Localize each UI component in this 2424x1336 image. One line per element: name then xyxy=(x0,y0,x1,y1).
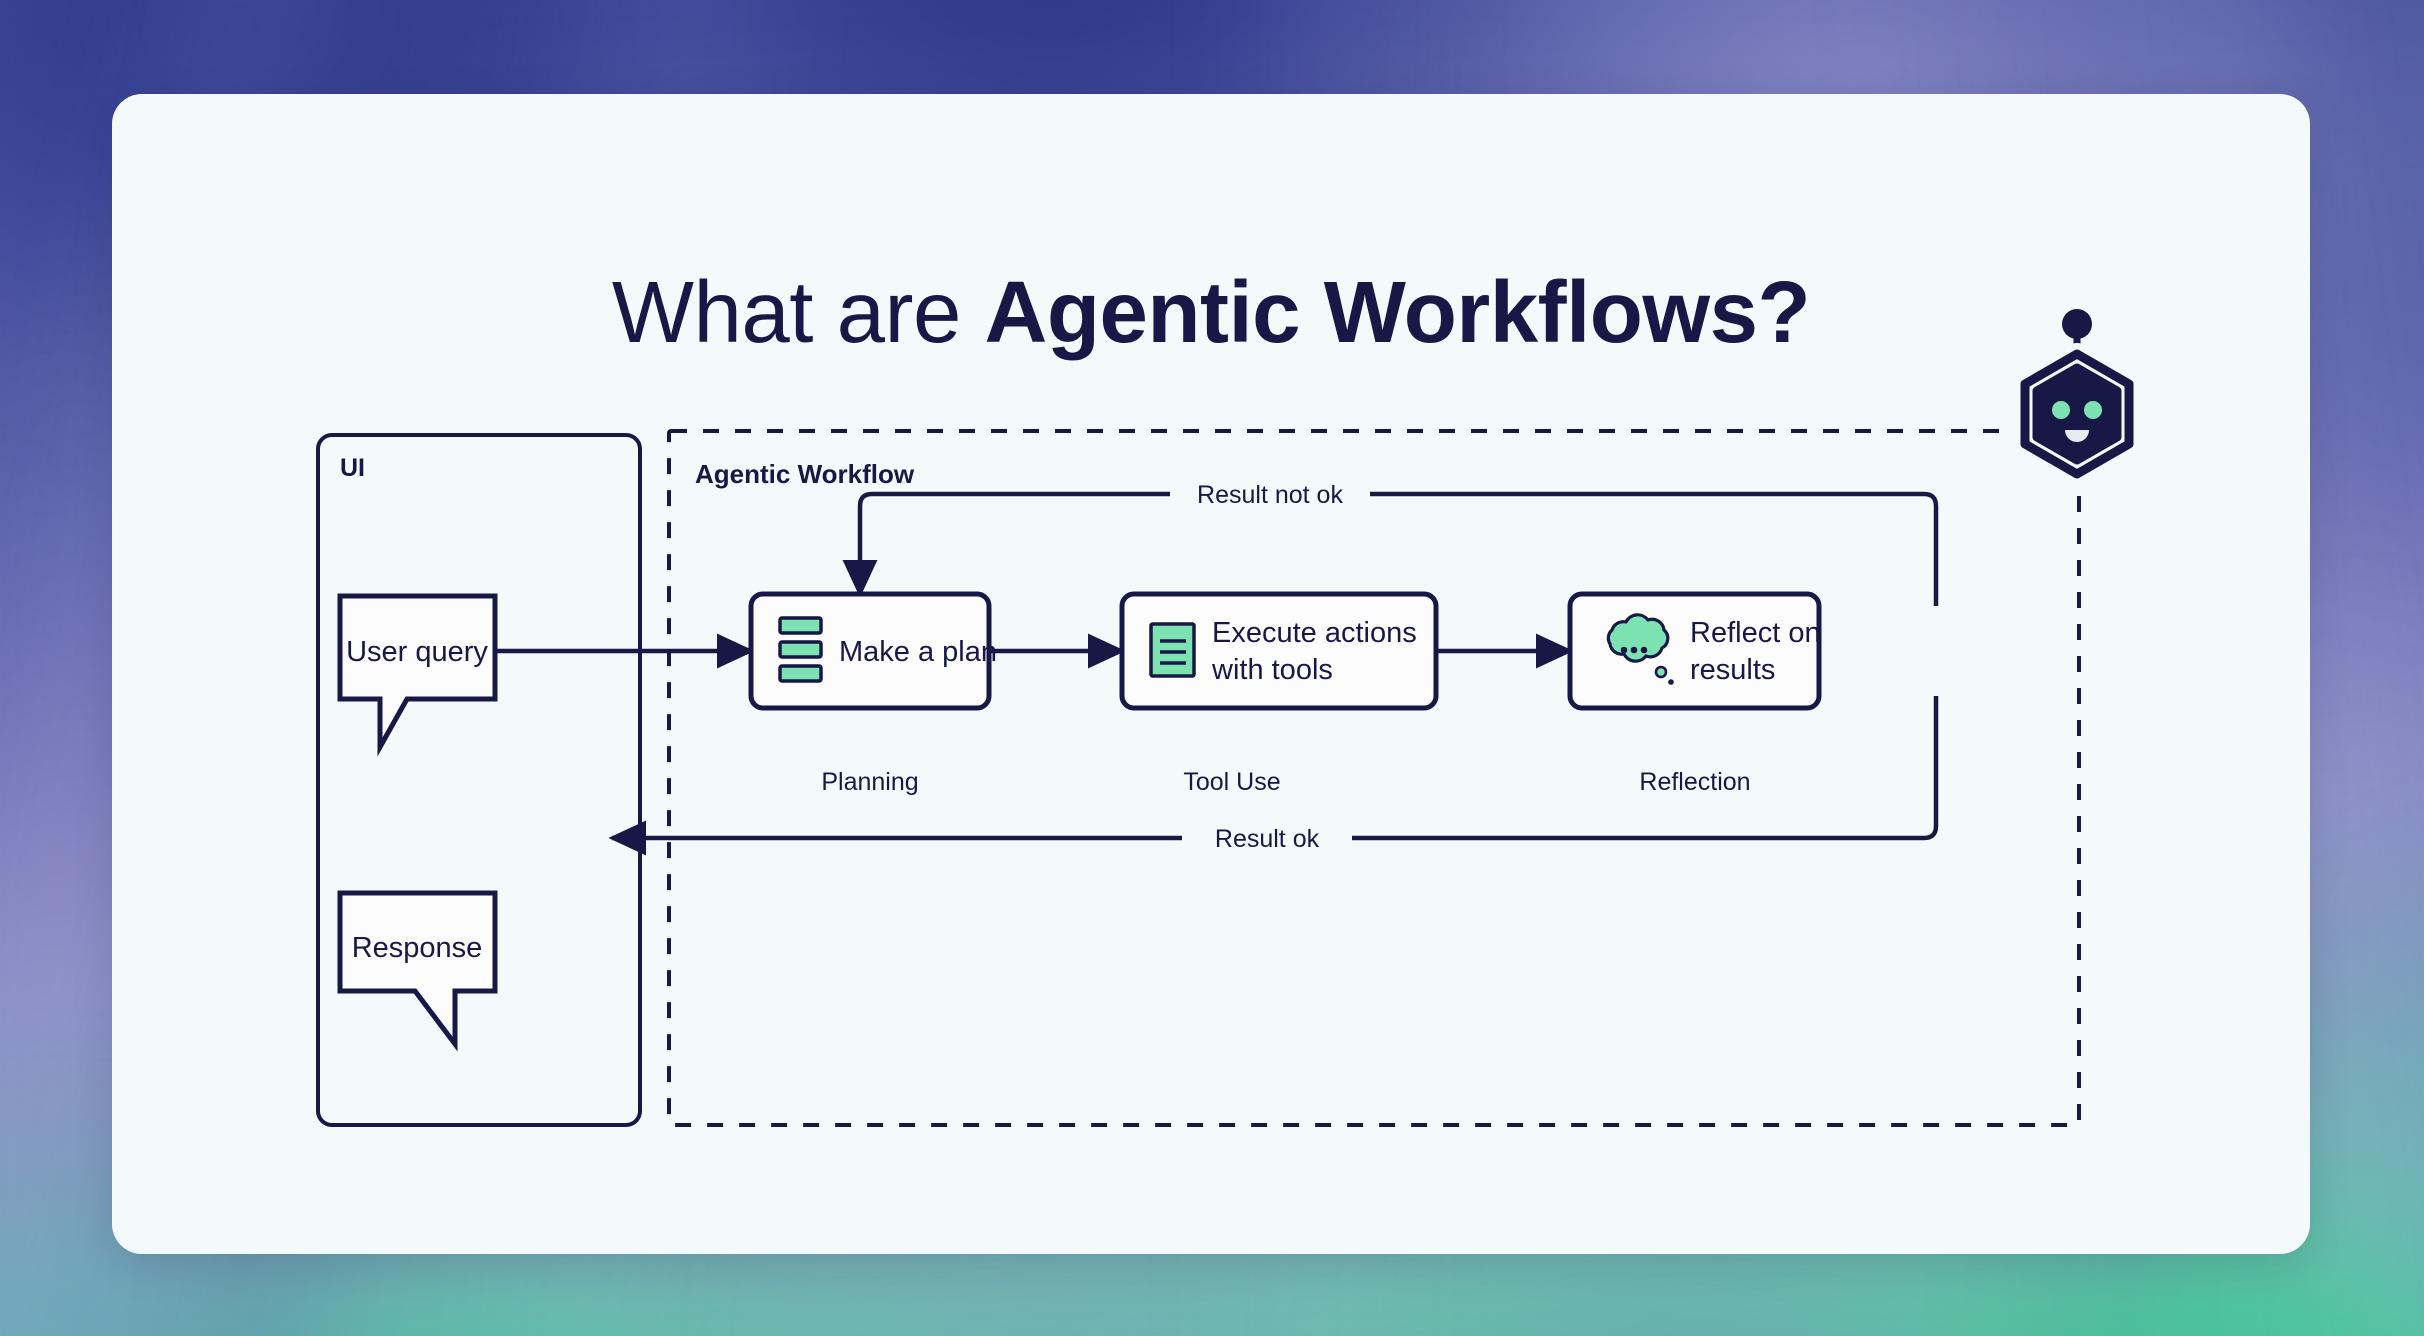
agentic-workflow-diagram: UI Agentic Workflow Result not ok Result… xyxy=(112,94,2310,1254)
agentic-workflow-label: Agentic Workflow xyxy=(695,459,915,489)
edge-result-not-ok-label: Result not ok xyxy=(1197,481,1343,509)
step-reflection[interactable]: Reflect on results Reflection xyxy=(1570,594,1821,796)
step-reflection-title-line1: Reflect on xyxy=(1690,617,1821,649)
step-tool-use-title-line1: Execute actions xyxy=(1212,617,1417,649)
robot-hexagon-avatar xyxy=(2025,309,2129,474)
user-query-bubble[interactable]: User query xyxy=(340,596,495,747)
ui-container: UI xyxy=(318,434,640,1125)
ui-container-label: UI xyxy=(340,454,365,482)
step-planning[interactable]: Make a plan Planning xyxy=(751,594,997,796)
document-lines-icon xyxy=(1151,624,1194,676)
step-tool-use[interactable]: Execute actions with tools Tool Use xyxy=(1122,594,1436,796)
step-tool-use-title-line2: with tools xyxy=(1211,654,1333,686)
stacked-list-icon xyxy=(780,618,821,681)
step-tool-use-caption: Tool Use xyxy=(1183,768,1280,796)
slide-canvas: What are Agentic Workflows? xyxy=(0,0,2424,1336)
robot-eye-left-icon xyxy=(2052,401,2070,419)
step-planning-caption: Planning xyxy=(821,768,918,796)
step-reflection-caption: Reflection xyxy=(1639,768,1750,796)
edge-result-not-ok: Result not ok xyxy=(860,481,1936,606)
response-bubble[interactable]: Response xyxy=(340,893,495,1044)
edge-result-ok-label: Result ok xyxy=(1215,825,1320,853)
step-planning-title: Make a plan xyxy=(839,636,997,668)
ui-container-border xyxy=(318,435,640,1125)
robot-eye-right-icon xyxy=(2084,401,2102,419)
response-label: Response xyxy=(352,932,483,964)
step-reflection-box[interactable] xyxy=(1570,594,1819,708)
user-query-label: User query xyxy=(346,636,488,668)
step-reflection-title-line2: results xyxy=(1690,654,1775,686)
robot-antenna-icon xyxy=(2062,309,2092,339)
content-card: What are Agentic Workflows? xyxy=(112,94,2310,1254)
